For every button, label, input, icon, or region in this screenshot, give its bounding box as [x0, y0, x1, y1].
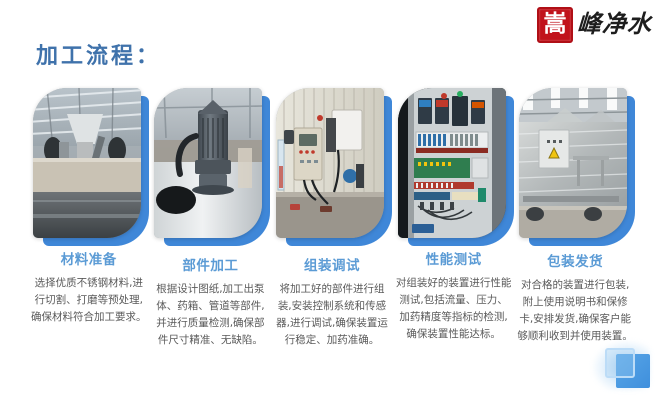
process-step-card: 材料准备 选择优质不锈钢材料,进行切割、打磨等预处理,确保材料符合加工要求。 [30, 88, 148, 349]
decoration-outline-square [605, 348, 635, 378]
step-body: 对合格的装置进行包装,附上使用说明书和保修卡,安排发货,确保客户能够顺利收到并使… [517, 277, 633, 345]
photo-frame [398, 88, 510, 240]
step-heading: 组装调试 [274, 260, 390, 274]
photo-packaging-shipping [519, 88, 627, 238]
step-heading: 性能测试 [396, 254, 512, 268]
step-body: 根据设计图纸,加工出泵体、药箱、管道等部件,并进行质量检测,确保部件尺寸精准、无… [152, 281, 268, 349]
blue-squares-decoration [590, 338, 652, 392]
step-caption: 包装发货 对合格的装置进行包装,附上使用说明书和保修卡,安排发货,确保客户能够顺… [517, 256, 633, 345]
step-heading: 包装发货 [517, 256, 633, 270]
step-caption: 材料准备 选择优质不锈钢材料,进行切割、打磨等预处理,确保材料符合加工要求。 [31, 254, 147, 326]
photo-material-preparation [33, 88, 141, 238]
brand-logo: 嵩 峰净水 [537, 6, 652, 44]
process-step-card: 部件加工 根据设计图纸,加工出泵体、药箱、管道等部件,并进行质量检测,确保部件尺… [152, 88, 270, 349]
step-body: 对组装好的装置进行性能测试,包括流量、压力、加药精度等指标的检测,确保装置性能达… [396, 275, 512, 343]
step-caption: 性能测试 对组装好的装置进行性能测试,包括流量、压力、加药精度等指标的检测,确保… [396, 254, 512, 343]
process-steps-strip: 材料准备 选择优质不锈钢材料,进行切割、打磨等预处理,确保材料符合加工要求。 [30, 88, 634, 349]
process-step-card: 包装发货 对合格的装置进行包装,附上使用说明书和保修卡,安排发货,确保客户能够顺… [516, 88, 634, 349]
photo-frame [276, 88, 388, 240]
photo-frame [154, 88, 266, 240]
photo-performance-testing [398, 88, 506, 238]
step-caption: 组装调试 将加工好的部件进行组装,安装控制系统和传感器,进行调试,确保装置运行稳… [274, 260, 390, 349]
step-heading: 部件加工 [152, 260, 268, 274]
step-caption: 部件加工 根据设计图纸,加工出泵体、药箱、管道等部件,并进行质量检测,确保部件尺… [152, 260, 268, 349]
process-step-card: 性能测试 对组装好的装置进行性能测试,包括流量、压力、加药精度等指标的检测,确保… [395, 88, 513, 349]
process-step-card: 组装调试 将加工好的部件进行组装,安装控制系统和传感器,进行调试,确保装置运行稳… [273, 88, 391, 349]
page-title: 加工流程： [36, 38, 161, 70]
photo-frame [33, 88, 145, 240]
logo-wordmark: 峰净水 [576, 12, 652, 38]
step-body: 将加工好的部件进行组装,安装控制系统和传感器,进行调试,确保装置运行稳定、加药准… [274, 281, 390, 349]
photo-component-machining [154, 88, 262, 238]
step-heading: 材料准备 [31, 254, 147, 268]
step-body: 选择优质不锈钢材料,进行切割、打磨等预处理,确保材料符合加工要求。 [31, 275, 147, 326]
logo-seal-icon: 嵩 [537, 7, 573, 43]
photo-frame [519, 88, 631, 240]
photo-assembly-debugging [276, 88, 384, 238]
